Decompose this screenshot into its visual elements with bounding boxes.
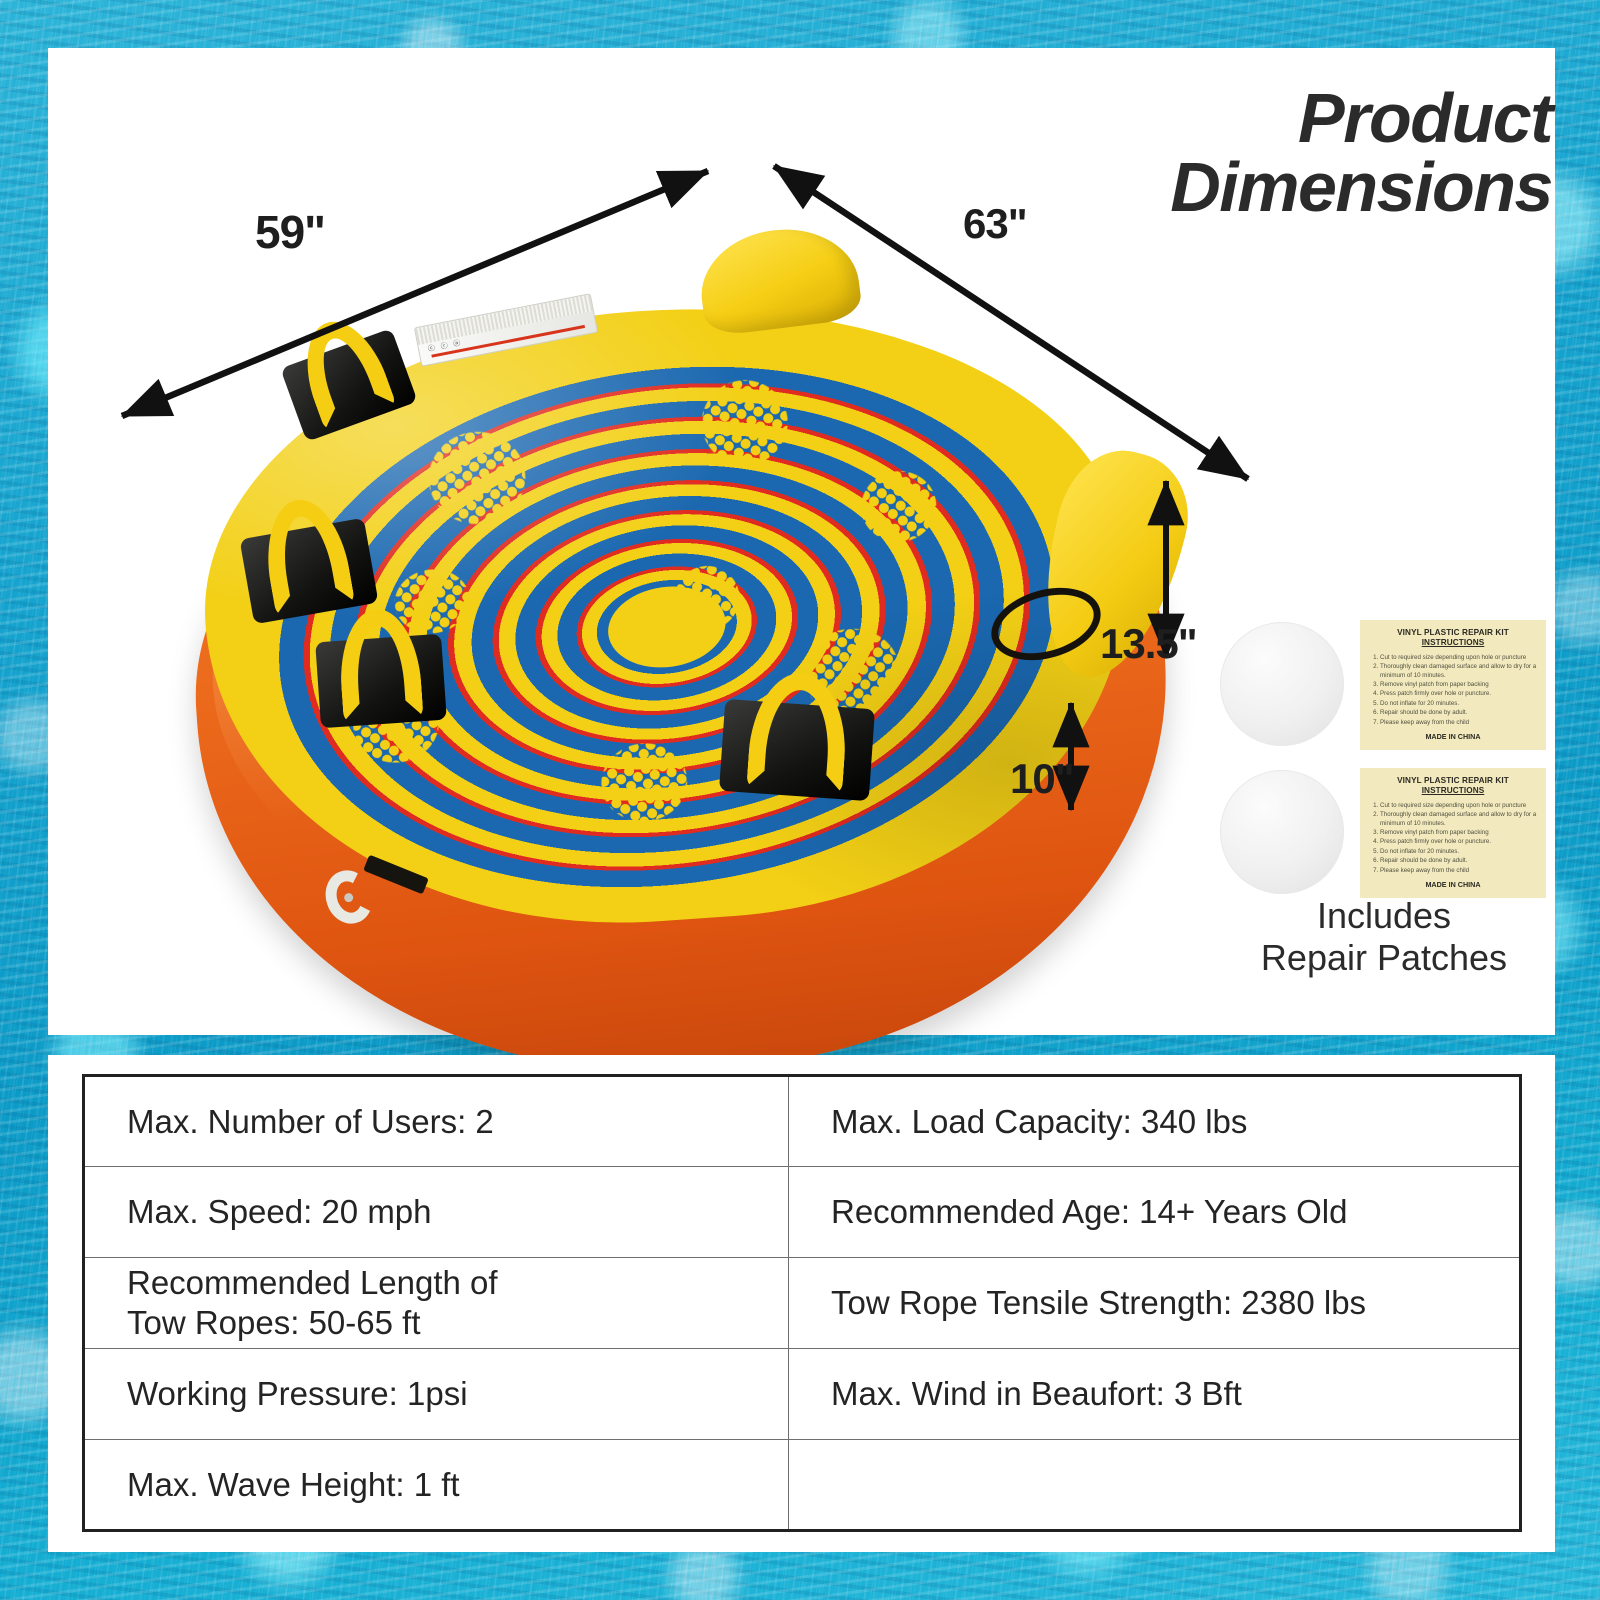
spec-cell: Max. Wind in Beaufort: 3 Bft bbox=[789, 1349, 1521, 1440]
includes-repair-patches-caption: Includes Repair Patches bbox=[1216, 895, 1552, 980]
dimension-label-length: 63" bbox=[963, 200, 1027, 248]
spec-cell: Working Pressure: 1psi bbox=[84, 1349, 789, 1440]
list-item: Cut to required size depending upon hole… bbox=[1380, 802, 1537, 811]
spec-cell: Tow Rope Tensile Strength: 2380 lbs bbox=[789, 1258, 1521, 1349]
list-item: Cut to required size depending upon hole… bbox=[1380, 654, 1537, 663]
table-row: Max. Wave Height: 1 ft bbox=[84, 1440, 1521, 1531]
repair-card-title: VINYL PLASTIC REPAIR KIT INSTRUCTIONS bbox=[1369, 628, 1537, 649]
repair-card-instruction-list: Cut to required size depending upon hole… bbox=[1380, 802, 1537, 876]
spec-cell bbox=[789, 1440, 1521, 1531]
table-row: Working Pressure: 1psi Max. Wind in Beau… bbox=[84, 1349, 1521, 1440]
list-item: Repair should be done by adult. bbox=[1380, 857, 1537, 866]
table-row: Max. Speed: 20 mph Recommended Age: 14+ … bbox=[84, 1167, 1521, 1258]
repair-card-made-in: MADE IN CHINA bbox=[1369, 880, 1537, 889]
dimension-label-width: 59" bbox=[255, 205, 325, 259]
repair-card-title-line1: VINYL PLASTIC REPAIR KIT bbox=[1397, 776, 1509, 785]
spec-cell: Max. Load Capacity: 340 lbs bbox=[789, 1076, 1521, 1167]
repair-patch-item: VINYL PLASTIC REPAIR KIT INSTRUCTIONS Cu… bbox=[1216, 614, 1546, 764]
list-item: Please keep away from the child bbox=[1380, 719, 1537, 728]
list-item: Remove vinyl patch from paper backing bbox=[1380, 829, 1537, 838]
repair-card-title-line1: VINYL PLASTIC REPAIR KIT bbox=[1397, 628, 1509, 637]
repair-patch-disc bbox=[1220, 770, 1344, 894]
list-item: Thoroughly clean damaged surface and all… bbox=[1380, 663, 1537, 681]
spec-cell: Max. Speed: 20 mph bbox=[84, 1167, 789, 1258]
repair-card-instruction-list: Cut to required size depending upon hole… bbox=[1380, 654, 1537, 728]
list-item: Remove vinyl patch from paper backing bbox=[1380, 681, 1537, 690]
repair-patch-item: VINYL PLASTIC REPAIR KIT INSTRUCTIONS Cu… bbox=[1216, 762, 1546, 912]
list-item: Do not inflate for 20 minutes. bbox=[1380, 848, 1537, 857]
repair-kit-instruction-card: VINYL PLASTIC REPAIR KIT INSTRUCTIONS Cu… bbox=[1360, 620, 1546, 750]
repair-card-title-line2: INSTRUCTIONS bbox=[1422, 786, 1485, 795]
dimension-label-height: 13.5" bbox=[1100, 620, 1197, 668]
table-row: Max. Number of Users: 2 Max. Load Capaci… bbox=[84, 1076, 1521, 1167]
repair-patch-disc bbox=[1220, 622, 1344, 746]
spec-cell: Recommended Length of Tow Ropes: 50-65 f… bbox=[84, 1258, 789, 1349]
repair-card-made-in: MADE IN CHINA bbox=[1369, 732, 1537, 741]
table-row: Recommended Length of Tow Ropes: 50-65 f… bbox=[84, 1258, 1521, 1349]
list-item: Repair should be done by adult. bbox=[1380, 709, 1537, 718]
list-item: Press patch firmly over hole or puncture… bbox=[1380, 838, 1537, 847]
repair-card-title-line2: INSTRUCTIONS bbox=[1422, 638, 1485, 647]
spec-cell: Recommended Age: 14+ Years Old bbox=[789, 1167, 1521, 1258]
dimension-label-tube-height: 10" bbox=[1010, 755, 1074, 803]
repair-kit-instruction-card: VINYL PLASTIC REPAIR KIT INSTRUCTIONS Cu… bbox=[1360, 768, 1546, 898]
specifications-table: Max. Number of Users: 2 Max. Load Capaci… bbox=[82, 1074, 1522, 1532]
list-item: Thoroughly clean damaged surface and all… bbox=[1380, 811, 1537, 829]
arrow-width-59 bbox=[122, 171, 708, 416]
spec-cell: Max. Wave Height: 1 ft bbox=[84, 1440, 789, 1531]
list-item: Press patch firmly over hole or puncture… bbox=[1380, 690, 1537, 699]
list-item: Do not inflate for 20 minutes. bbox=[1380, 700, 1537, 709]
spec-cell: Max. Number of Users: 2 bbox=[84, 1076, 789, 1167]
repair-card-title: VINYL PLASTIC REPAIR KIT INSTRUCTIONS bbox=[1369, 776, 1537, 797]
list-item: Please keep away from the child bbox=[1380, 867, 1537, 876]
